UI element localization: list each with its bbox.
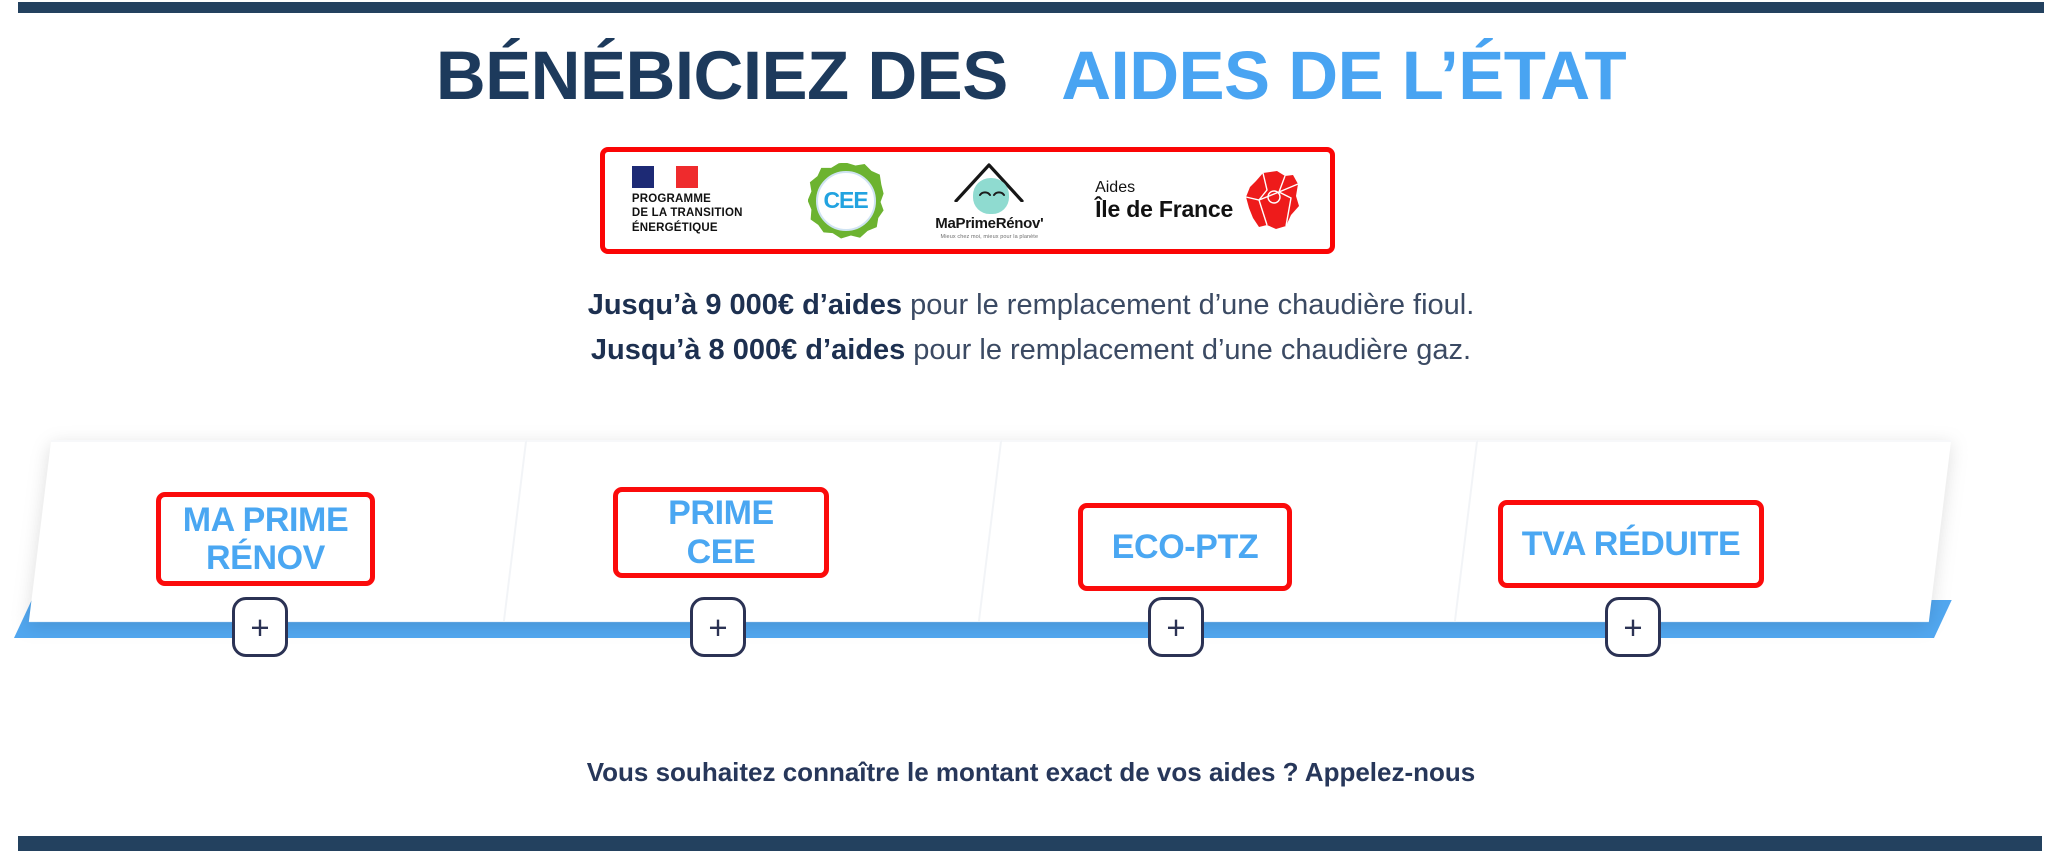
aid-chip-label-line2: RÉNOV (206, 539, 325, 577)
logo-pte-line1: PROGRAMME (632, 192, 782, 206)
aid-line-gaz-bold: Jusqu’à 8 000€ d’aides (591, 334, 905, 366)
french-flag-icon (632, 166, 698, 188)
expand-toggle-prime-cee[interactable]: + (690, 597, 746, 657)
top-divider-bar (18, 2, 2044, 13)
idf-region-map-icon (1241, 170, 1303, 232)
aid-chip-eco-ptz[interactable]: ECO-PTZ (1078, 503, 1292, 591)
cee-label: CEE (823, 187, 867, 214)
page-title: BÉNÉBICIEZ DES AIDES DE L’ÉTAT (0, 40, 2062, 112)
logo-programme-transition-energetique: PROGRAMME DE LA TRANSITION ÉNERGÉTIQUE (632, 166, 782, 235)
aid-line-fioul: Jusqu’à 9 000€ d’aides pour le remplacem… (0, 283, 2062, 328)
aid-chip-label: PRIME CEE (668, 494, 774, 570)
logo-idf-big: Île de France (1095, 197, 1233, 222)
aid-chip-prime-cee[interactable]: PRIME CEE (613, 487, 829, 578)
aid-chip-label-line1: ECO-PTZ (1112, 528, 1258, 566)
logo-idf-text: Aides Île de France (1095, 179, 1233, 222)
plus-icon: + (1623, 611, 1642, 644)
expand-toggle-eco-ptz[interactable]: + (1148, 597, 1204, 657)
plus-icon: + (250, 611, 269, 644)
aid-amount-lines: Jusqu’à 9 000€ d’aides pour le remplacem… (0, 283, 2062, 373)
expand-toggle-tva-reduite[interactable]: + (1605, 597, 1661, 657)
footer-call-prompt: Vous souhaitez connaître le montant exac… (0, 757, 2062, 788)
partner-logo-banner: PROGRAMME DE LA TRANSITION ÉNERGÉTIQUE C… (600, 147, 1335, 254)
aid-chip-label: MA PRIME RÉNOV (183, 501, 349, 577)
aid-line-gaz: Jusqu’à 8 000€ d’aides pour le remplacem… (0, 328, 2062, 373)
aid-chip-label-line1: TVA RÉDUITE (1522, 525, 1741, 563)
bottom-divider-bar (18, 836, 2042, 851)
aid-line-gaz-rest: pour le remplacement d’une chaudière gaz… (905, 334, 1471, 366)
logo-aides-ile-de-france: Aides Île de France (1095, 170, 1303, 232)
logo-mpr-tagline: Mieux chez moi, mieux pour la planète (941, 234, 1039, 240)
aid-chip-label-line2: CEE (687, 533, 756, 571)
plus-icon: + (708, 611, 727, 644)
page-title-light-part: AIDES DE L’ÉTAT (1061, 37, 1626, 114)
aid-chip-ma-prime-renov[interactable]: MA PRIME RÉNOV (156, 492, 375, 586)
logo-idf-small: Aides (1095, 179, 1233, 197)
cee-badge-icon: CEE (808, 163, 884, 239)
aid-line-fioul-bold: Jusqu’à 9 000€ d’aides (588, 289, 902, 321)
plus-icon: + (1166, 611, 1185, 644)
aid-chip-label-line1: PRIME (668, 494, 774, 532)
logo-pte-text: PROGRAMME DE LA TRANSITION ÉNERGÉTIQUE (632, 192, 782, 235)
page-title-dark-part: BÉNÉBICIEZ DES (436, 37, 1008, 114)
page-root: BÉNÉBICIEZ DES AIDES DE L’ÉTAT PROGRAMME… (0, 0, 2062, 854)
smiling-eyes-icon (979, 186, 1005, 198)
cee-inner-disc: CEE (816, 171, 876, 231)
house-blob-icon (953, 162, 1025, 214)
logo-maprimerenov: MaPrimeRénov' Mieux chez moi, mieux pour… (909, 162, 1069, 240)
logo-pte-line3: ÉNERGÉTIQUE (632, 221, 782, 235)
aid-chip-label-line1: MA PRIME (183, 501, 349, 539)
logo-pte-line2: DE LA TRANSITION (632, 206, 782, 220)
logo-mpr-name: MaPrimeRénov' (935, 215, 1043, 232)
aid-chip-tva-reduite[interactable]: TVA RÉDUITE (1498, 500, 1764, 588)
aid-line-fioul-rest: pour le remplacement d’une chaudière fio… (902, 289, 1474, 321)
expand-toggle-ma-prime-renov[interactable]: + (232, 597, 288, 657)
